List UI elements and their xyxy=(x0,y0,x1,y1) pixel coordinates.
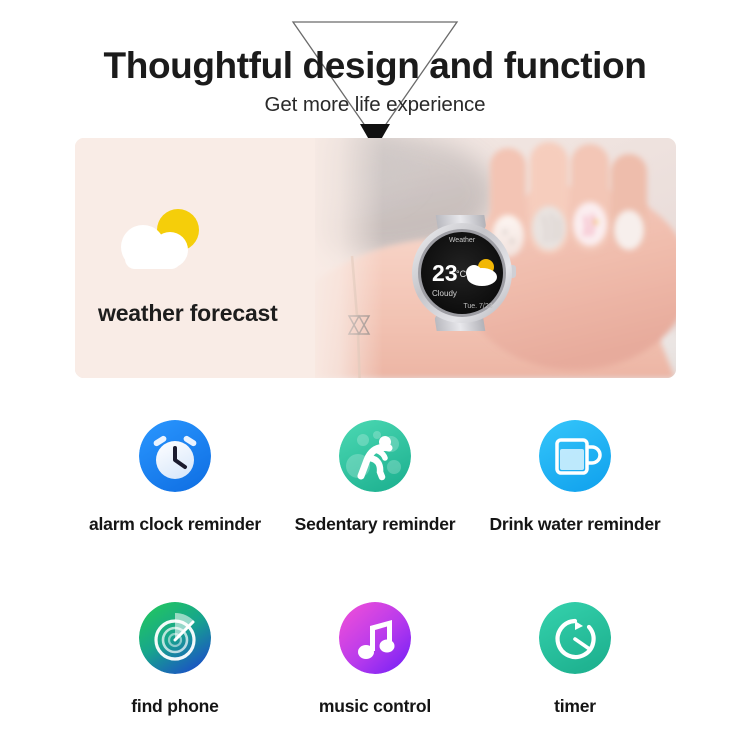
feature-row-1: alarm clock reminder S xyxy=(75,420,675,535)
stretching-person-icon[interactable] xyxy=(339,420,411,492)
radar-find-phone-icon[interactable] xyxy=(139,602,211,674)
header-section: Thoughtful design and function Get more … xyxy=(0,0,750,140)
feature-alarm-clock-reminder[interactable]: alarm clock reminder xyxy=(75,420,275,535)
watch-date: Tue. 7/23 xyxy=(463,303,492,310)
water-mug-icon[interactable] xyxy=(539,420,611,492)
feature-find-phone[interactable]: find phone xyxy=(75,602,275,717)
watch-temperature-unit: °C xyxy=(456,269,467,279)
feature-grid: alarm clock reminder S xyxy=(75,420,675,717)
feature-label: alarm clock reminder xyxy=(89,514,261,535)
page-subtitle: Get more life experience xyxy=(0,86,750,117)
music-note-icon[interactable] xyxy=(339,602,411,674)
alarm-clock-icon[interactable] xyxy=(139,420,211,492)
feature-drink-water-reminder[interactable]: Drink water reminder xyxy=(475,420,675,535)
feature-sedentary-reminder[interactable]: Sedentary reminder xyxy=(275,420,475,535)
feature-label: Drink water reminder xyxy=(489,514,660,535)
smartwatch: Weather 23 °C Cloudy Tue. 7/23 xyxy=(404,215,520,331)
title-block: Thoughtful design and function Get more … xyxy=(0,0,750,117)
page-title: Thoughtful design and function xyxy=(0,0,750,86)
feature-label: Sedentary reminder xyxy=(295,514,456,535)
stopwatch-timer-icon[interactable] xyxy=(539,602,611,674)
feature-timer[interactable]: timer xyxy=(475,602,675,717)
banner-fade xyxy=(303,138,383,378)
sun-behind-cloud-icon xyxy=(115,205,215,285)
feature-row-2: find phone music control xyxy=(75,602,675,717)
feature-label: find phone xyxy=(131,696,218,717)
weather-forecast-label: weather forecast xyxy=(98,300,278,327)
watch-screen-title: Weather xyxy=(449,237,476,244)
watch-temperature: 23 xyxy=(432,260,458,286)
feature-label: music control xyxy=(319,696,431,717)
feature-music-control[interactable]: music control xyxy=(275,602,475,717)
feature-label: timer xyxy=(554,696,596,717)
watch-condition: Cloudy xyxy=(432,289,457,298)
